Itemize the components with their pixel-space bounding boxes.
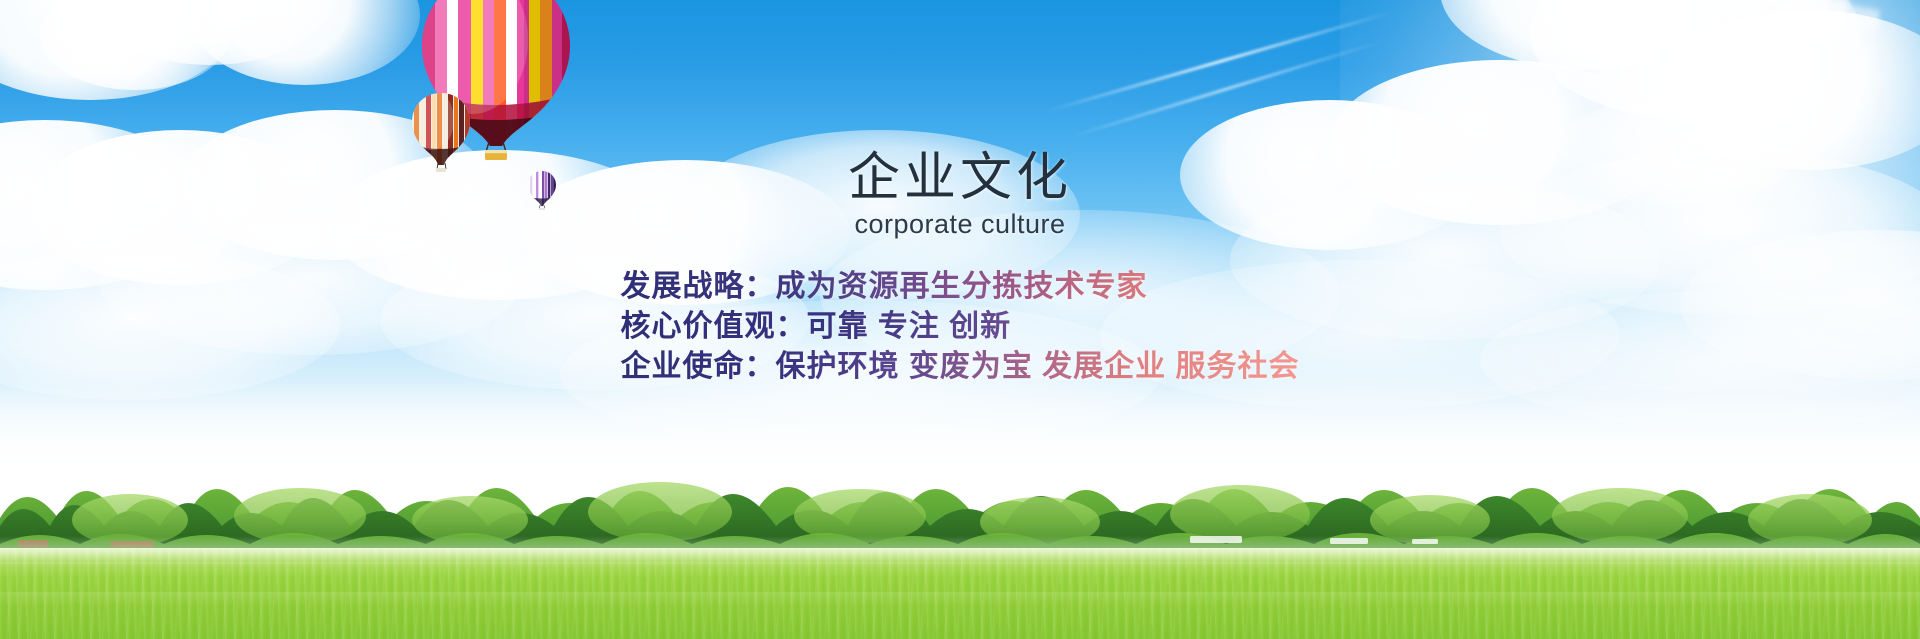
grass-texture — [0, 548, 1920, 639]
page-title: 企业文化 — [0, 150, 1920, 206]
banner-text-block: 企业文化 corporate culture 发展战略：成为资源再生分拣技术专家… — [0, 150, 1920, 387]
culture-statement-list: 发展战略：成为资源再生分拣技术专家 核心价值观：可靠 专注 创新 企业使命：保护… — [620, 267, 1299, 387]
grass-light-band — [0, 562, 1920, 578]
statement-core-values: 核心价值观：可靠 专注 创新 — [620, 307, 1299, 347]
page-subtitle: corporate culture — [0, 208, 1920, 240]
tree-line — [0, 400, 1920, 570]
statement-corporate-mission: 企业使命：保护环境 变废为宝 发展企业 服务社会 — [620, 347, 1299, 387]
grass-light-band — [0, 592, 1920, 606]
grass-field — [0, 548, 1920, 639]
grass-horizon-blend — [0, 548, 1920, 566]
statement-development-strategy: 发展战略：成为资源再生分拣技术专家 — [620, 267, 1299, 307]
corporate-culture-banner: 企业文化 corporate culture 发展战略：成为资源再生分拣技术专家… — [0, 0, 1920, 639]
